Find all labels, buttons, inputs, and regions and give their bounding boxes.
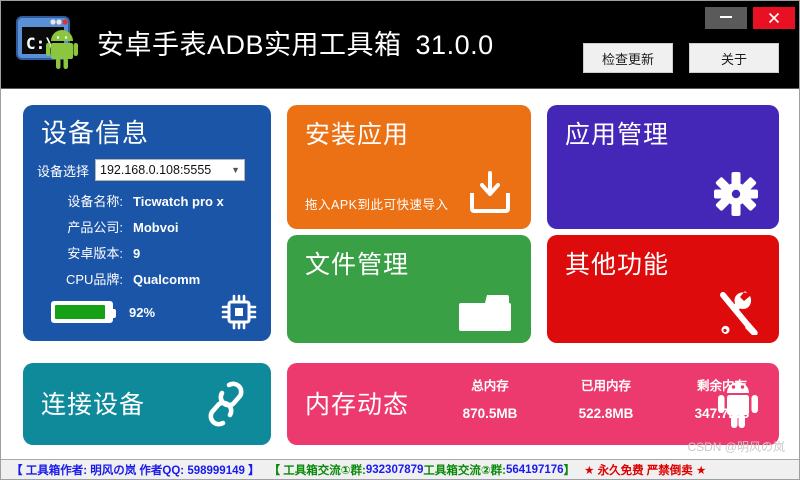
memory-column-used: 已用内存 522.8MB	[563, 375, 649, 421]
app-management-title: 应用管理	[565, 115, 669, 151]
status-author-block: 【 工具箱作者: 明风の岚 作者QQ: 598999149 】	[11, 462, 260, 478]
device-select-dropdown[interactable]: 192.168.0.108:5555 ▼	[95, 159, 245, 181]
gear-icon	[711, 169, 761, 219]
status-group2-qq: 564197176	[506, 464, 564, 476]
chevron-down-icon: ▼	[228, 165, 240, 175]
about-button[interactable]: 关于	[689, 43, 779, 73]
status-group1-qq: 932307879	[366, 464, 424, 476]
status-notice: ★ 永久免费 严禁倒卖 ★	[584, 462, 706, 478]
file-management-tile[interactable]: 文件管理	[287, 235, 531, 343]
battery-icon	[51, 301, 113, 323]
download-tray-icon	[467, 169, 513, 215]
header-button-group: 检查更新 关于	[583, 43, 779, 73]
folder-icon	[459, 291, 511, 333]
app-version: 31.0.0	[416, 30, 494, 60]
android-robot-icon	[717, 377, 759, 429]
device-detail-list: 设备名称: Ticwatch pro x 产品公司: Mobvoi 安卓版本: …	[53, 191, 263, 295]
device-detail-row: 产品公司: Mobvoi	[53, 217, 263, 243]
status-group2-label: 工具箱交流②群:	[423, 462, 506, 478]
device-detail-key: 安卓版本:	[53, 243, 123, 262]
memory-used-value: 522.8MB	[563, 406, 649, 421]
device-detail-key: 产品公司:	[53, 217, 123, 236]
close-button[interactable]	[753, 7, 795, 29]
install-app-hint: 拖入APK到此可快速导入	[305, 194, 449, 213]
memory-column-total: 总内存 870.5MB	[447, 375, 533, 421]
app-management-tile[interactable]: 应用管理	[547, 105, 779, 229]
memory-total-label: 总内存	[447, 375, 533, 394]
device-select-label: 设备选择	[37, 161, 89, 180]
memory-used-label: 已用内存	[563, 375, 649, 394]
device-detail-row: 设备名称: Ticwatch pro x	[53, 191, 263, 217]
battery-percent-label: 92%	[129, 305, 155, 320]
status-group-open: 【 工具箱交流①群:	[269, 462, 366, 478]
check-update-button[interactable]: 检查更新	[583, 43, 673, 73]
status-bar: 【 工具箱作者: 明风の岚 作者QQ: 598999149 】 【 工具箱交流①…	[1, 459, 799, 479]
battery-fill	[55, 305, 105, 319]
title-bar: C:\_ 安卓手表ADB实用工具箱31.0.0	[1, 1, 800, 89]
device-detail-row: 安卓版本: 9	[53, 243, 263, 269]
cmd-android-logo-icon: C:\_	[13, 13, 85, 75]
app-title-text: 安卓手表ADB实用工具箱	[97, 30, 402, 60]
install-app-title: 安装应用	[305, 115, 409, 151]
device-detail-key: CPU品牌:	[53, 269, 123, 288]
window-controls	[705, 7, 795, 29]
link-chain-icon	[203, 379, 249, 429]
device-info-title: 设备信息	[41, 113, 149, 150]
device-status-row: 92%	[51, 295, 259, 329]
other-functions-title: 其他功能	[565, 245, 669, 281]
memory-status-panel: 内存动态 总内存 870.5MB 已用内存 522.8MB 剩余内存 347.7…	[287, 363, 779, 445]
memory-total-value: 870.5MB	[447, 406, 533, 421]
tools-wrench-screwdriver-icon	[711, 287, 763, 335]
device-detail-value: Qualcomm	[133, 272, 200, 287]
app-title: 安卓手表ADB实用工具箱31.0.0	[97, 23, 494, 62]
file-management-title: 文件管理	[305, 245, 409, 281]
memory-title: 内存动态	[305, 385, 409, 421]
device-select-row: 设备选择 192.168.0.108:5555 ▼	[37, 159, 245, 181]
install-app-tile[interactable]: 安装应用 拖入APK到此可快速导入	[287, 105, 531, 229]
cpu-chip-icon	[219, 292, 259, 332]
device-detail-value: Ticwatch pro x	[133, 194, 224, 209]
device-select-value: 192.168.0.108:5555	[100, 163, 228, 177]
connect-device-tile[interactable]: 连接设备	[23, 363, 271, 445]
other-functions-tile[interactable]: 其他功能	[547, 235, 779, 343]
close-icon	[768, 12, 780, 24]
connect-device-title: 连接设备	[41, 385, 145, 421]
device-detail-value: 9	[133, 246, 140, 261]
device-detail-key: 设备名称:	[53, 191, 123, 210]
device-info-panel: 设备信息 设备选择 192.168.0.108:5555 ▼ 设备名称: Tic…	[23, 105, 271, 341]
application-window: C:\_ 安卓手表ADB实用工具箱31.0.0	[0, 0, 800, 480]
device-detail-value: Mobvoi	[133, 220, 179, 235]
minimize-button[interactable]	[705, 7, 747, 29]
status-group-close: 】	[564, 462, 576, 478]
